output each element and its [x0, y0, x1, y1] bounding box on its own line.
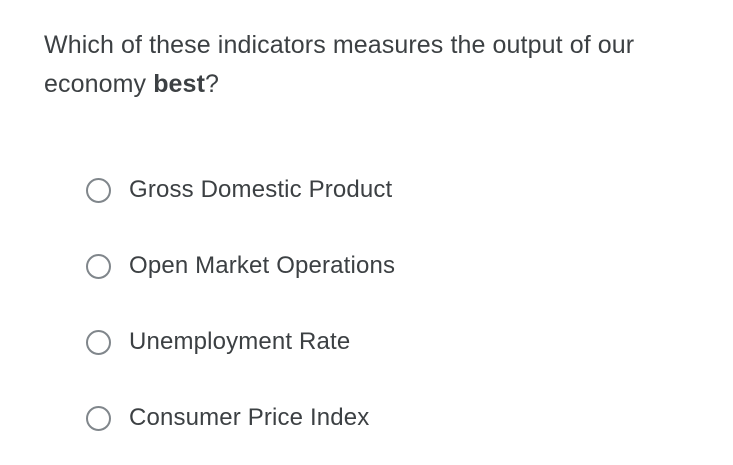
option-label: Open Market Operations	[129, 252, 395, 280]
question-emphasis-word: best	[153, 70, 205, 98]
option-label: Gross Domestic Product	[129, 176, 392, 204]
question-title: Which of these indicators measures the o…	[44, 26, 704, 104]
option-row-open-market-operations[interactable]: Open Market Operations	[0, 228, 733, 304]
option-row-unemployment-rate[interactable]: Unemployment Rate	[0, 304, 733, 380]
radio-unselected-icon[interactable]	[86, 178, 111, 203]
option-label: Consumer Price Index	[129, 404, 369, 432]
radio-unselected-icon[interactable]	[86, 254, 111, 279]
question-card: Which of these indicators measures the o…	[0, 0, 733, 465]
option-row-consumer-price-index[interactable]: Consumer Price Index	[0, 380, 733, 456]
question-text-part-1: Which of these indicators measures the o…	[44, 31, 634, 98]
radio-unselected-icon[interactable]	[86, 406, 111, 431]
option-row-gross-domestic-product[interactable]: Gross Domestic Product	[0, 152, 733, 228]
question-text-part-2: ?	[205, 70, 219, 98]
radio-unselected-icon[interactable]	[86, 330, 111, 355]
option-label: Unemployment Rate	[129, 328, 350, 356]
options-list: Gross Domestic Product Open Market Opera…	[0, 152, 733, 456]
